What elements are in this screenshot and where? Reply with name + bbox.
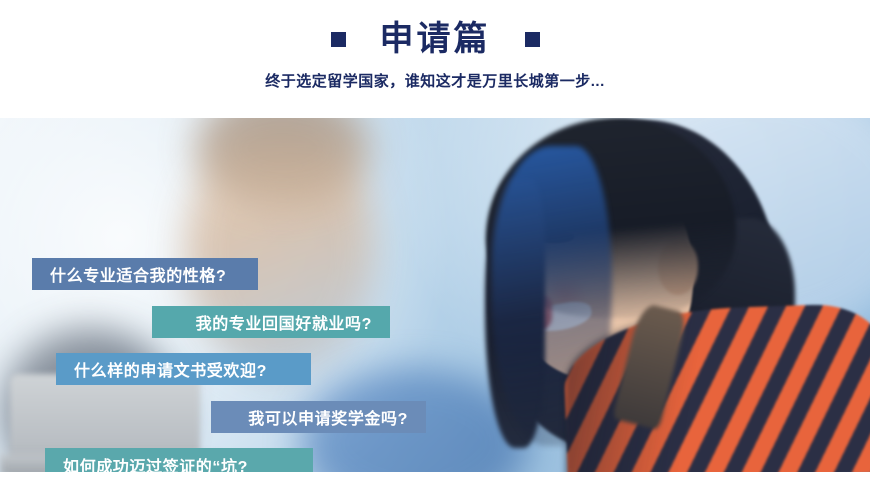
question-bubble[interactable]: 我可以申请奖学金吗? — [211, 401, 426, 433]
question-bubble[interactable]: 如何成功迈过签证的“坑? — [45, 448, 313, 472]
student-photo-subject — [430, 118, 870, 472]
footer-strip — [0, 472, 870, 492]
question-bubble-label: 我的专业回国好就业吗? — [196, 310, 372, 334]
question-bubble-label: 我可以申请奖学金吗? — [248, 405, 408, 429]
question-bubble-label: 什么样的申请文书受欢迎? — [74, 357, 267, 381]
subject-shirt-shadow — [565, 308, 870, 472]
square-bullet-left-icon — [331, 32, 346, 47]
question-bubble[interactable]: 什么样的申请文书受欢迎? — [56, 353, 311, 385]
header-banner: 申请篇 终于选定留学国家，谁知这才是万里长城第一步... — [0, 0, 870, 118]
page-subtitle: 终于选定留学国家，谁知这才是万里长城第一步... — [0, 70, 870, 91]
question-bubble[interactable]: 什么专业适合我的性格? — [32, 258, 258, 290]
question-bubble-label: 如何成功迈过签证的“坑? — [63, 453, 248, 473]
square-bullet-right-icon — [525, 32, 540, 47]
page-title-row: 申请篇 — [0, 18, 870, 60]
question-bubble-label: 什么专业适合我的性格? — [50, 262, 226, 286]
page-title: 申请篇 — [380, 18, 491, 60]
question-bubble[interactable]: 我的专业回国好就业吗? — [152, 306, 390, 338]
hero-photo: 什么专业适合我的性格?我的专业回国好就业吗?什么样的申请文书受欢迎?我可以申请奖… — [0, 118, 870, 472]
